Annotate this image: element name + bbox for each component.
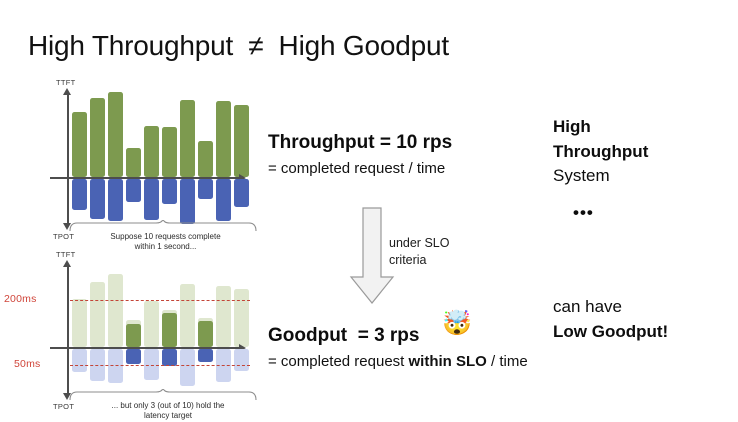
- goodput-formula-pre: = completed request: [268, 353, 409, 370]
- bar-tpot-2: [90, 179, 105, 219]
- bar-ttft-10: [234, 105, 249, 177]
- bar-tpot-faded-7: [180, 349, 195, 386]
- bar-ttft-3: [108, 92, 123, 177]
- exploding-head-icon: 🤯: [442, 312, 472, 336]
- bottom-chart-tpot-label: TPOT: [53, 402, 74, 411]
- goodput-chart: TTFT TPOT 200ms: [0, 248, 260, 422]
- right-line-low-goodput: Low Goodput!: [553, 322, 668, 342]
- top-chart-brace: [68, 220, 258, 232]
- right-line-throughput: Throughput: [553, 142, 648, 162]
- slide-canvas: High Throughput ≠ High Goodput TTFT TPOT: [0, 0, 738, 422]
- bar-tpot-within-slo-8: [198, 349, 213, 362]
- right-line-can-have: can have: [553, 297, 622, 317]
- threshold-label-200ms: 200ms: [4, 293, 37, 305]
- bar-tpot-within-slo-6: [162, 349, 177, 366]
- bar-ttft-faded-9: [216, 286, 231, 347]
- goodput-formula-bold: within SLO: [409, 353, 487, 370]
- top-chart-ttft-label: TTFT: [56, 78, 76, 87]
- bar-tpot-faded-10: [234, 349, 249, 371]
- bottom-chart-brace: [68, 389, 258, 401]
- right-ellipsis: •••: [573, 203, 594, 223]
- throughput-formula: = completed request / time: [268, 160, 445, 177]
- bar-tpot-10: [234, 179, 249, 207]
- bar-ttft-9: [216, 101, 231, 177]
- bar-ttft-faded-3: [108, 274, 123, 347]
- bar-ttft-faded-2: [90, 282, 105, 347]
- bar-tpot-within-slo-4: [126, 349, 141, 364]
- goodput-formula: = completed request within SLO / time: [268, 353, 528, 370]
- bar-tpot-4: [126, 179, 141, 202]
- top-chart-vertical-axis: [67, 94, 69, 224]
- bar-ttft-5: [144, 126, 159, 177]
- bar-ttft-within-slo-8: [198, 321, 213, 347]
- bar-tpot-5: [144, 179, 159, 220]
- bar-ttft-faded-1: [72, 299, 87, 347]
- bar-tpot-1: [72, 179, 87, 210]
- bar-tpot-faded-1: [72, 349, 87, 372]
- bar-ttft-faded-10: [234, 289, 249, 347]
- threshold-label-50ms: 50ms: [14, 358, 40, 370]
- bar-ttft-7: [180, 100, 195, 177]
- bar-ttft-6: [162, 127, 177, 177]
- bar-ttft-2: [90, 98, 105, 177]
- bar-ttft-8: [198, 141, 213, 177]
- threshold-line-200ms: [70, 300, 250, 301]
- right-line-high: High: [553, 117, 591, 137]
- bar-ttft-faded-5: [144, 301, 159, 347]
- bar-ttft-within-slo-4: [126, 324, 141, 347]
- bar-tpot-8: [198, 179, 213, 199]
- page-title: High Throughput ≠ High Goodput: [28, 30, 449, 62]
- goodput-heading: Goodput = 3 rps: [268, 325, 419, 347]
- threshold-line-50ms: [70, 365, 250, 366]
- throughput-chart: TTFT TPOT Suppose 10 requests complete w…: [0, 80, 250, 235]
- bar-ttft-faded-7: [180, 284, 195, 347]
- right-line-system: System: [553, 166, 610, 186]
- bottom-chart-vertical-axis: [67, 266, 69, 394]
- bar-ttft-within-slo-6: [162, 313, 177, 347]
- bar-ttft-1: [72, 112, 87, 177]
- goodput-formula-post: / time: [487, 353, 528, 370]
- top-chart-tpot-label: TPOT: [53, 232, 74, 241]
- bar-tpot-faded-3: [108, 349, 123, 383]
- bar-ttft-4: [126, 148, 141, 177]
- bar-tpot-9: [216, 179, 231, 221]
- bar-tpot-7: [180, 179, 195, 224]
- bar-tpot-6: [162, 179, 177, 204]
- bottom-chart-ttft-label: TTFT: [56, 250, 76, 259]
- bar-tpot-3: [108, 179, 123, 221]
- bottom-chart-caption: ... but only 3 (out of 10) hold the late…: [78, 401, 258, 421]
- throughput-heading: Throughput = 10 rps: [268, 132, 452, 154]
- slo-arrow-label: under SLO criteria: [389, 235, 449, 269]
